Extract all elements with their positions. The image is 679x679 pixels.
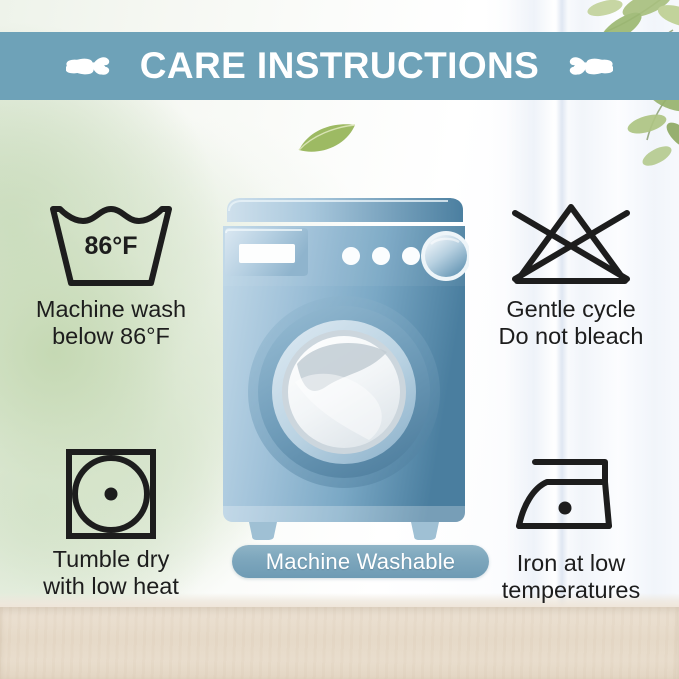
care-symbol-caption: Gentle cycle Do not bleach [466,296,676,351]
tumble-dry-icon [61,444,161,544]
machine-washable-badge: Machine Washable [232,545,489,578]
fleur-de-lis-icon [561,45,613,87]
page-title: CARE INSTRUCTIONS [140,45,539,87]
iron-icon [509,452,633,544]
care-symbol-caption: Tumble dry with low heat [6,546,216,601]
care-instructions-infographic: CARE INSTRUCTIONS 86°F Machine wash belo… [0,0,679,679]
wash-tub-symbol: 86°F [6,196,216,292]
care-symbol-caption: Iron at low temperatures [466,550,676,605]
fleur-de-lis-icon [66,45,118,87]
floating-leaf-icon [296,122,358,156]
washing-machine-illustration [219,196,469,541]
badge-label: Machine Washable [266,549,455,575]
care-symbol-iron: Iron at low temperatures [466,450,676,605]
do-not-bleach-symbol [466,196,676,292]
wash-tub-icon: 86°F [43,197,179,291]
iron-symbol [466,450,676,546]
wooden-surface [0,607,679,679]
tumble-dry-symbol [6,446,216,542]
care-symbol-do-not-bleach: Gentle cycle Do not bleach [466,196,676,351]
triangle-crossed-out-icon [503,197,639,291]
care-symbol-caption: Machine wash below 86°F [6,296,216,351]
care-symbol-tumble-dry: Tumble dry with low heat [6,446,216,601]
care-symbol-machine-wash: 86°F Machine wash below 86°F [6,196,216,351]
wash-temperature-value: 86°F [84,232,137,260]
header-banner: CARE INSTRUCTIONS [0,32,679,100]
